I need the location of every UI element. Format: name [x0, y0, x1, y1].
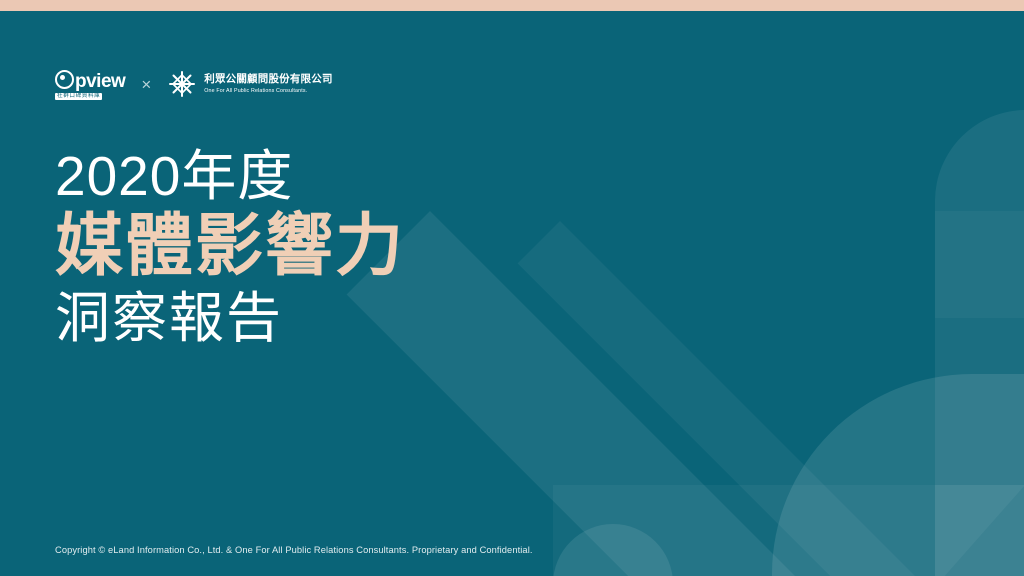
opview-o-icon: [55, 70, 74, 89]
page-title: 2020年度 媒體影響力 洞察報告: [55, 148, 405, 347]
logo-separator-icon: ×: [139, 76, 153, 93]
title-line-year: 2020年度: [55, 148, 405, 205]
title-slide: pview 社群口碑資料庫 ×: [0, 0, 1024, 576]
one-for-all-name-en: One For All Public Relations Consultants…: [204, 88, 332, 95]
title-line-sub: 洞察報告: [55, 290, 405, 347]
wedge-shape: [935, 485, 1024, 576]
one-for-all-text: 利眾公關顧問股份有限公司 One For All Public Relation…: [204, 73, 332, 94]
opview-wordmark-text: pview: [75, 72, 125, 91]
top-accent-band: [0, 0, 1024, 11]
logo-row: pview 社群口碑資料庫 ×: [55, 68, 333, 100]
opview-wordmark: pview: [55, 68, 125, 91]
one-for-all-name-cn: 利眾公關顧問股份有限公司: [204, 73, 332, 86]
opview-logo: pview 社群口碑資料庫: [55, 68, 125, 101]
tonal-split-upper: [935, 211, 1024, 318]
opview-subtitle: 社群口碑資料庫: [55, 93, 102, 101]
snowflake-icon: [167, 69, 197, 99]
title-line-accent: 媒體影響力: [55, 211, 405, 282]
one-for-all-logo: 利眾公關顧問股份有限公司 One For All Public Relation…: [167, 69, 332, 99]
footer-copyright: Copyright © eLand Information Co., Ltd. …: [55, 545, 533, 555]
